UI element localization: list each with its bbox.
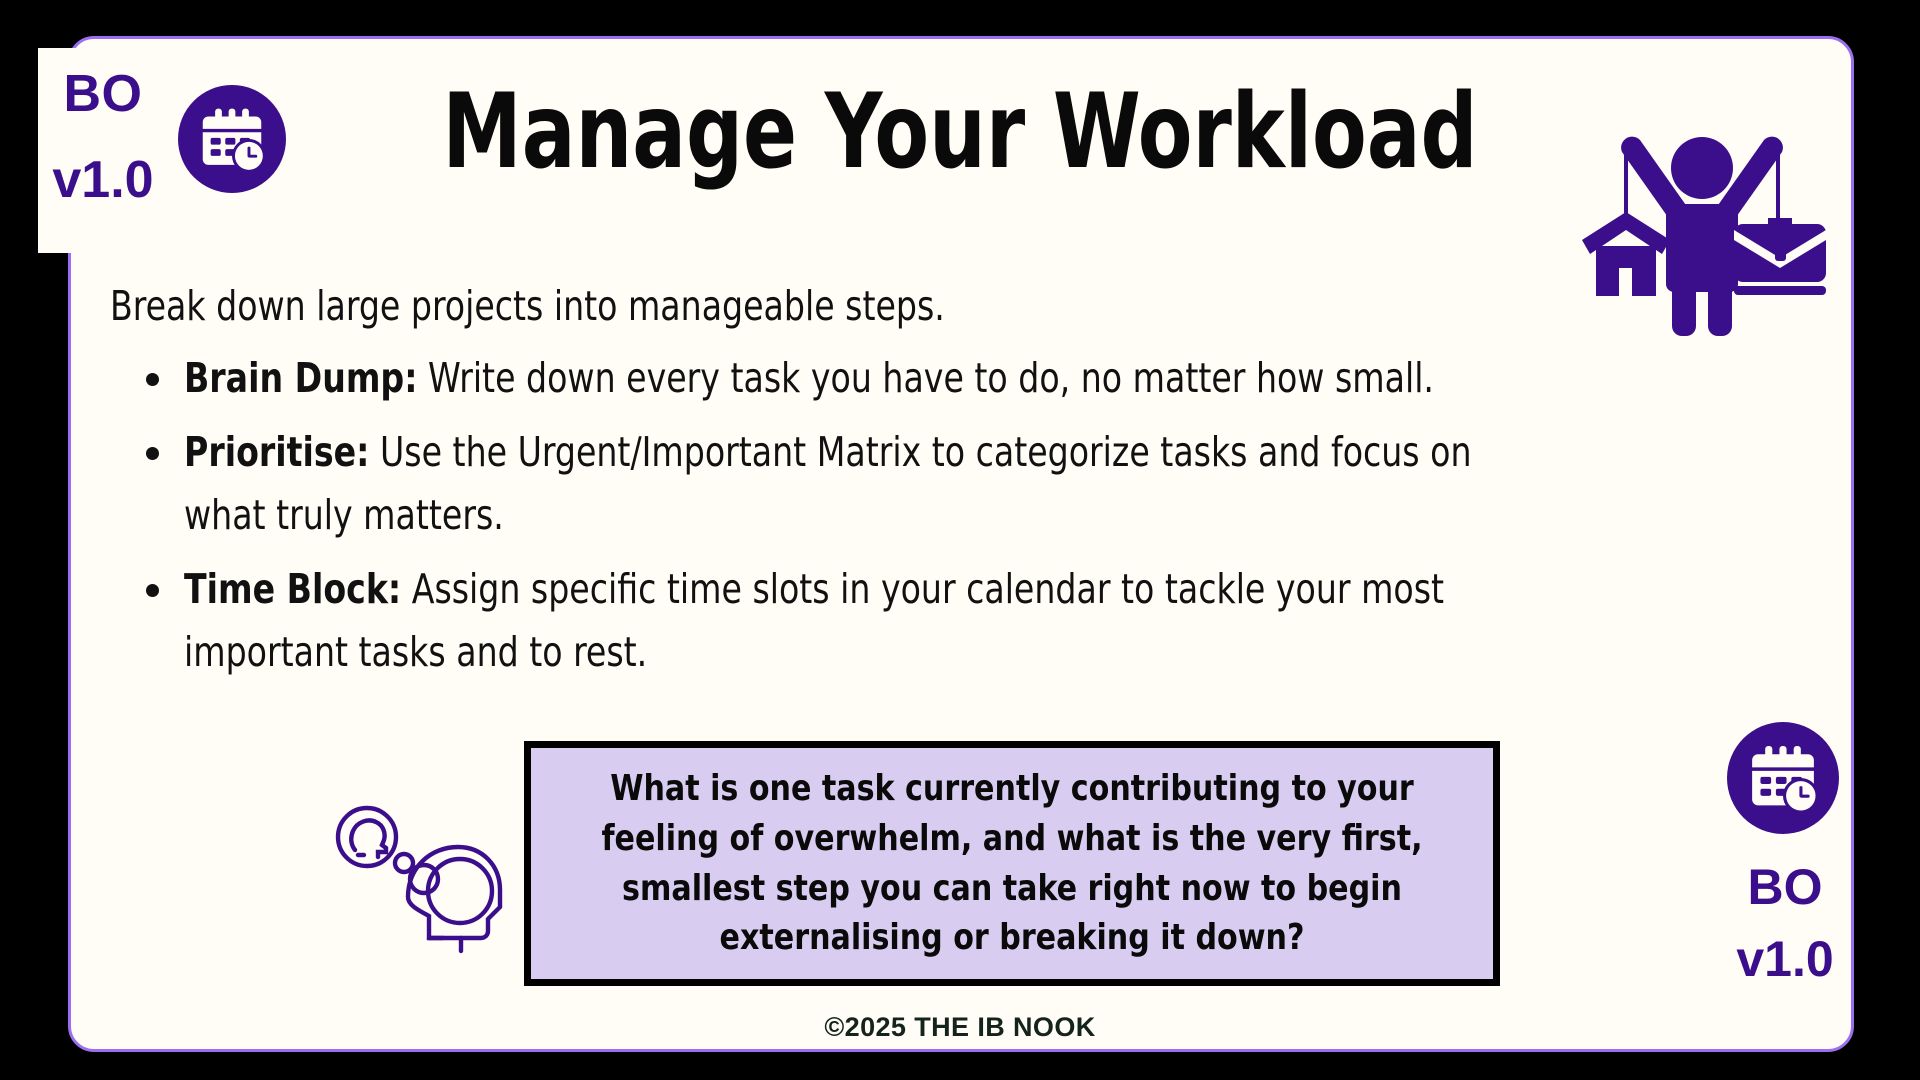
intro-text: Break down large projects into manageabl… xyxy=(110,280,1604,333)
work-life-balance-icon xyxy=(1562,128,1842,343)
brand-badge-top-left: BO v1.0 xyxy=(38,48,168,253)
brand-badge-top-left-brand: BO xyxy=(64,68,143,120)
bullet-icon xyxy=(146,447,159,460)
page-title: Manage Your Workload xyxy=(418,78,1502,186)
list-item: Time Block: Assign specific time slots i… xyxy=(110,558,1710,685)
copyright-footer: ©2025 THE IB NOOK xyxy=(0,1012,1920,1043)
list-item: Brain Dump: Write down every task you ha… xyxy=(110,347,1710,411)
body-content: Break down large projects into manageabl… xyxy=(110,280,1770,695)
brand-badge-bottom-right-brand: BO xyxy=(1700,862,1870,912)
bullet-icon xyxy=(146,373,159,386)
bullet-icon xyxy=(146,584,159,597)
brand-badge-top-left-version: v1.0 xyxy=(52,154,153,206)
brand-badge-bottom-right: BO v1.0 xyxy=(1700,862,1870,984)
list-item-text: Use the Urgent/Important Matrix to categ… xyxy=(184,428,1471,540)
thinking-head-icon xyxy=(330,795,505,955)
list-item-lead: Time Block: xyxy=(184,565,401,613)
tips-list: Brain Dump: Write down every task you ha… xyxy=(110,347,1770,685)
reflection-question-box: What is one task currently contributing … xyxy=(524,741,1500,986)
list-item: Prioritise: Use the Urgent/Important Mat… xyxy=(110,421,1710,548)
calendar-clock-icon xyxy=(178,85,286,193)
slide-root: Manage Your Workload BO v1.0 xyxy=(0,0,1920,1080)
reflection-question-text: What is one task currently contributing … xyxy=(589,764,1435,963)
list-item-lead: Prioritise: xyxy=(184,428,369,476)
list-item-text: Write down every task you have to do, no… xyxy=(417,354,1433,402)
calendar-clock-icon xyxy=(1727,722,1839,834)
brand-badge-bottom-right-version: v1.0 xyxy=(1700,934,1870,984)
list-item-lead: Brain Dump: xyxy=(184,354,417,402)
